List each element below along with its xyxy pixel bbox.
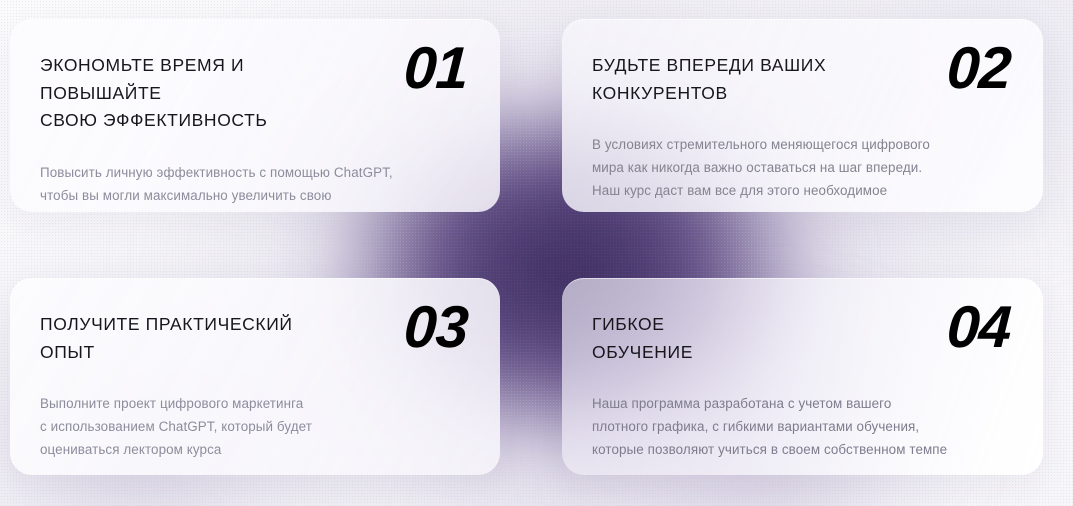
benefit-card-01-title: ЭКОНОМЬТЕ ВРЕМЯ И ПОВЫШАЙТЕ СВОЮ ЭФФЕКТИ… — [40, 46, 370, 135]
benefit-card-03-number: 03 — [403, 303, 469, 353]
benefit-card-04-header: ГИБКОЕ ОБУЧЕНИЕ 04 — [592, 305, 1013, 366]
benefit-card-03[interactable]: ПОЛУЧИТЕ ПРАКТИЧЕСКИЙ ОПЫТ 03 Выполните … — [10, 278, 500, 475]
benefit-card-02-title: БУДЬТЕ ВПЕРЕДИ ВАШИХ КОНКУРЕНТОВ — [592, 46, 826, 107]
benefit-card-01-number: 01 — [403, 44, 469, 94]
benefit-card-02[interactable]: БУДЬТЕ ВПЕРЕДИ ВАШИХ КОНКУРЕНТОВ 02 В ус… — [562, 19, 1043, 212]
benefit-card-03-header: ПОЛУЧИТЕ ПРАКТИЧЕСКИЙ ОПЫТ 03 — [40, 305, 470, 366]
benefit-card-01-header: ЭКОНОМЬТЕ ВРЕМЯ И ПОВЫШАЙТЕ СВОЮ ЭФФЕКТИ… — [40, 46, 470, 135]
benefit-card-04-title: ГИБКОЕ ОБУЧЕНИЕ — [592, 305, 693, 366]
benefit-card-02-description: В условиях стремительного меняющегося ци… — [592, 133, 1013, 202]
benefit-card-02-header: БУДЬТЕ ВПЕРЕДИ ВАШИХ КОНКУРЕНТОВ 02 — [592, 46, 1013, 107]
benefit-card-04-number: 04 — [946, 303, 1012, 353]
benefit-card-02-number: 02 — [946, 44, 1012, 94]
benefit-card-01-description: Повысить личную эффективность с помощью … — [40, 161, 470, 212]
benefit-card-03-description: Выполните проект цифрового маркетинга с … — [40, 392, 470, 461]
benefit-card-04-description: Наша программа разработана с учетом ваше… — [592, 392, 1013, 461]
benefits-section: ЭКОНОМЬТЕ ВРЕМЯ И ПОВЫШАЙТЕ СВОЮ ЭФФЕКТИ… — [0, 0, 1073, 506]
benefit-card-01[interactable]: ЭКОНОМЬТЕ ВРЕМЯ И ПОВЫШАЙТЕ СВОЮ ЭФФЕКТИ… — [10, 19, 500, 212]
benefit-card-04[interactable]: ГИБКОЕ ОБУЧЕНИЕ 04 Наша программа разраб… — [562, 278, 1043, 475]
benefit-card-03-title: ПОЛУЧИТЕ ПРАКТИЧЕСКИЙ ОПЫТ — [40, 305, 293, 366]
